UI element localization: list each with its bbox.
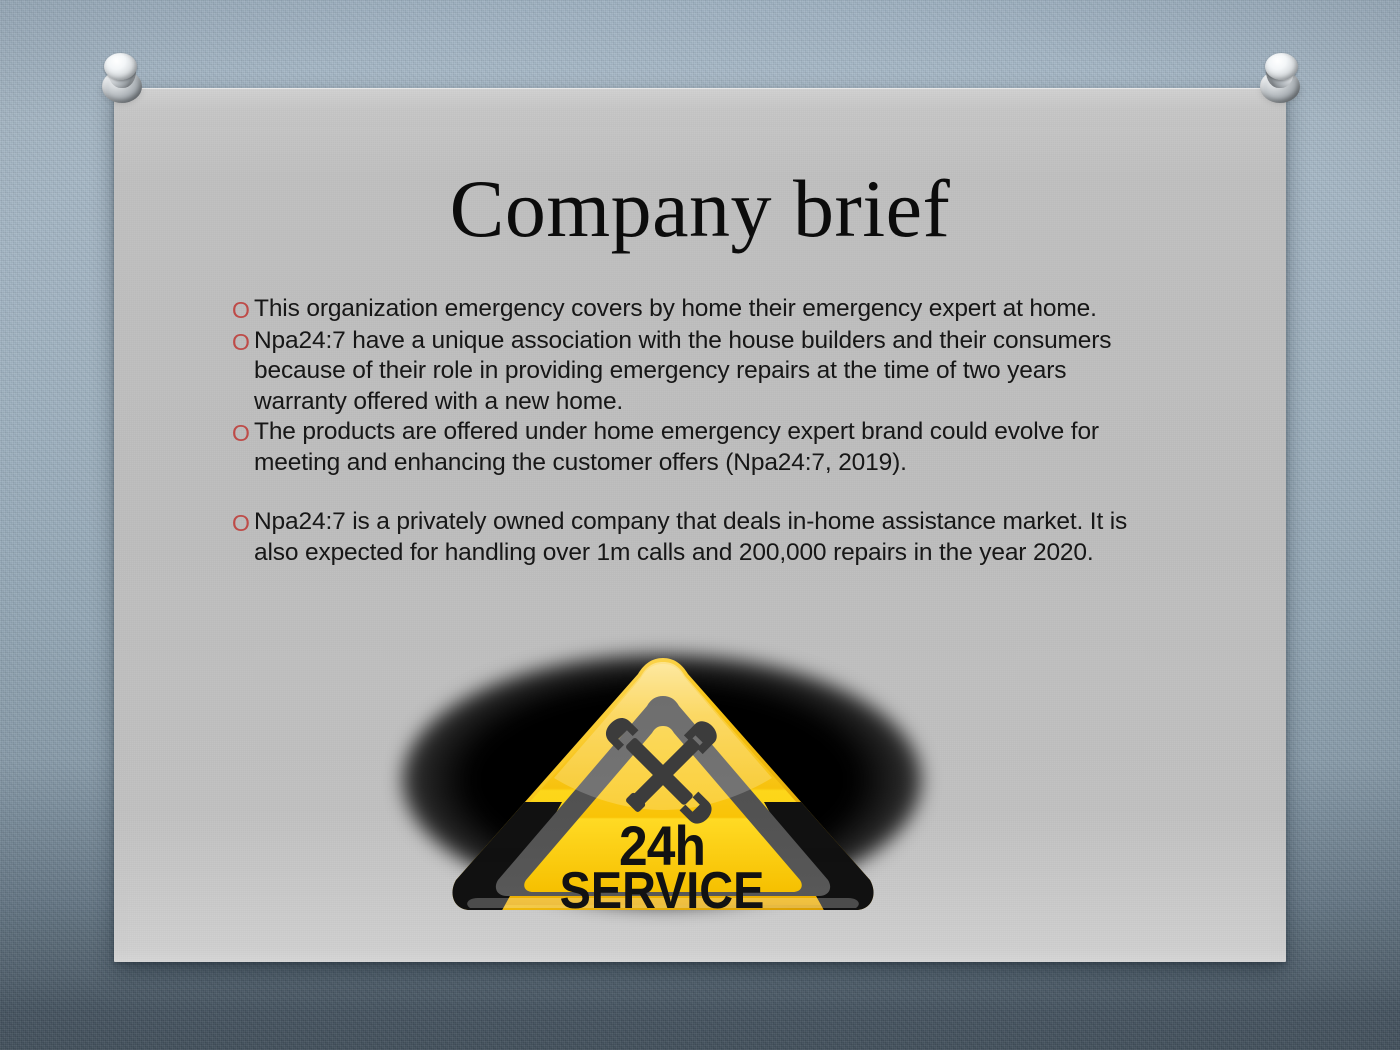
list-item: O The products are offered under home em… <box>232 417 1162 478</box>
list-item: O Npa24:7 is a privately owned company t… <box>232 507 1162 568</box>
list-item: O Npa24:7 have a unique association with… <box>232 326 1162 418</box>
bullet-marker-icon: O <box>232 326 254 358</box>
list-item: O This organization emergency covers by … <box>232 294 1162 326</box>
pin-head <box>104 53 137 80</box>
list-item-text: Npa24:7 have a unique association with t… <box>254 326 1162 418</box>
slide-board: Company brief O This organization emerge… <box>114 88 1286 962</box>
bullet-marker-icon: O <box>232 507 254 539</box>
bullet-list: O This organization emergency covers by … <box>232 294 1162 568</box>
pin-head <box>1265 53 1298 80</box>
list-item-text: This organization emergency covers by ho… <box>254 294 1162 325</box>
service-logo-image: 24h SERVICE <box>402 648 922 938</box>
pin-shaft <box>108 60 136 88</box>
logo-service-text: SERVICE <box>428 866 896 916</box>
bullet-marker-icon: O <box>232 294 254 326</box>
bullet-spacer <box>232 478 1162 507</box>
bullet-marker-icon: O <box>232 417 254 449</box>
list-item-text: Npa24:7 is a privately owned company tha… <box>254 507 1162 568</box>
list-item-text: The products are offered under home emer… <box>254 417 1162 478</box>
pin-shaft <box>1266 60 1294 88</box>
page-title: Company brief <box>114 168 1286 250</box>
